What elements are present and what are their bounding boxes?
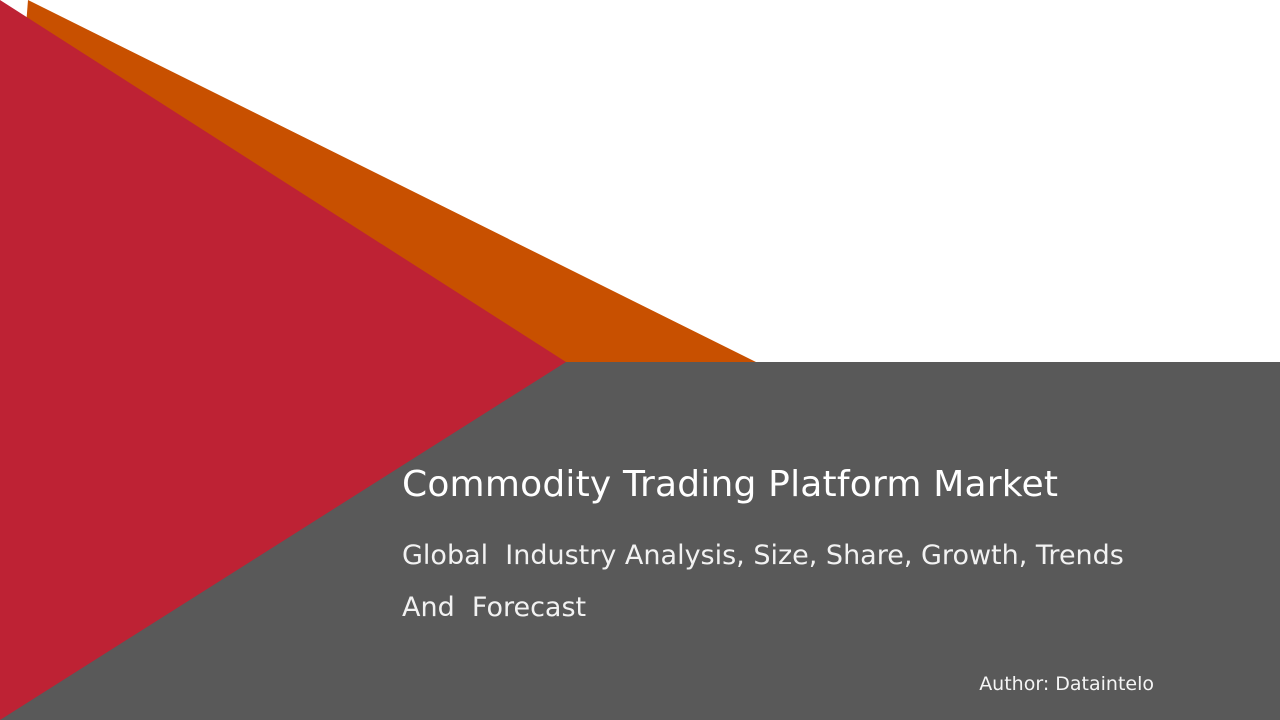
page-title: Commodity Trading Platform Market	[402, 462, 1182, 508]
cover-text-block: Commodity Trading Platform Market Global…	[402, 462, 1182, 634]
report-cover-slide: Commodity Trading Platform Market Global…	[0, 0, 1280, 720]
cover-subtitle: Global Industry Analysis, Size, Share, G…	[402, 508, 1182, 634]
author-label: Author: Dataintelo	[0, 672, 1154, 696]
